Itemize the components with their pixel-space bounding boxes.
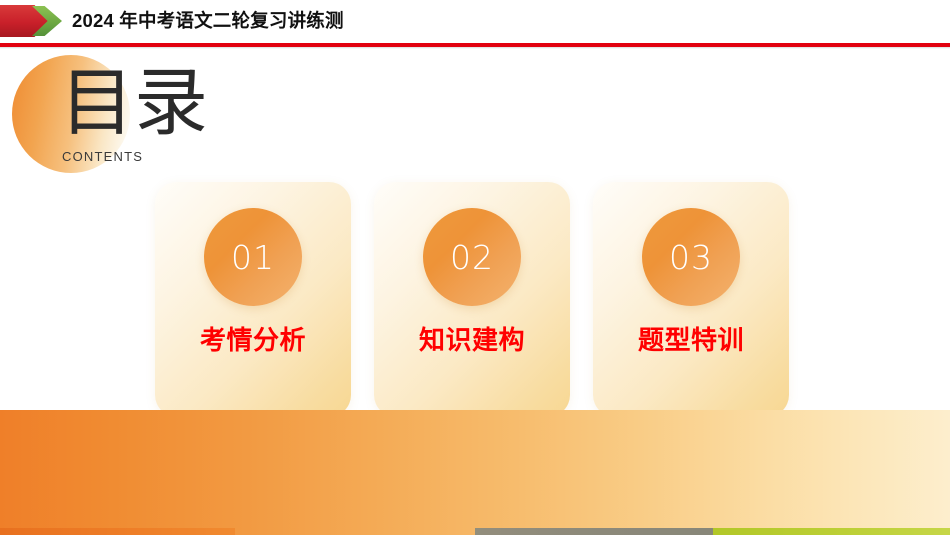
footer-strip-gray [475, 528, 713, 535]
contents-card-group: 01 考情分析 02 知识建构 03 题型特训 [0, 182, 950, 418]
contents-card-03[interactable]: 03 题型特训 [593, 182, 789, 417]
card-label: 题型特训 [593, 320, 789, 357]
contents-card-02[interactable]: 02 知识建构 [374, 182, 570, 417]
card-number: 02 [423, 208, 521, 306]
footer-gradient-band [0, 410, 950, 535]
card-number: 03 [642, 208, 740, 306]
slide-header: 2024 年中考语文二轮复习讲练测 [0, 0, 950, 46]
footer-strip-orange [0, 528, 235, 535]
table-of-contents-heading: 目录 CONTENTS [12, 55, 242, 170]
contents-card-01[interactable]: 01 考情分析 [155, 182, 351, 417]
header-badge [0, 5, 62, 37]
toc-subtitle: CONTENTS [62, 149, 143, 164]
header-divider-shadow [0, 47, 950, 49]
slide-root: 2024 年中考语文二轮复习讲练测 目录 CONTENTS 01 考情分析 02… [0, 0, 950, 535]
card-number-circle: 02 [423, 208, 521, 306]
toc-title: 目录 [60, 61, 208, 145]
card-label: 知识建构 [374, 320, 570, 357]
card-label: 考情分析 [155, 320, 351, 357]
card-number: 01 [204, 208, 302, 306]
header-title: 2024 年中考语文二轮复习讲练测 [72, 5, 344, 37]
footer-strip-green [713, 528, 950, 535]
card-number-circle: 03 [642, 208, 740, 306]
card-number-circle: 01 [204, 208, 302, 306]
